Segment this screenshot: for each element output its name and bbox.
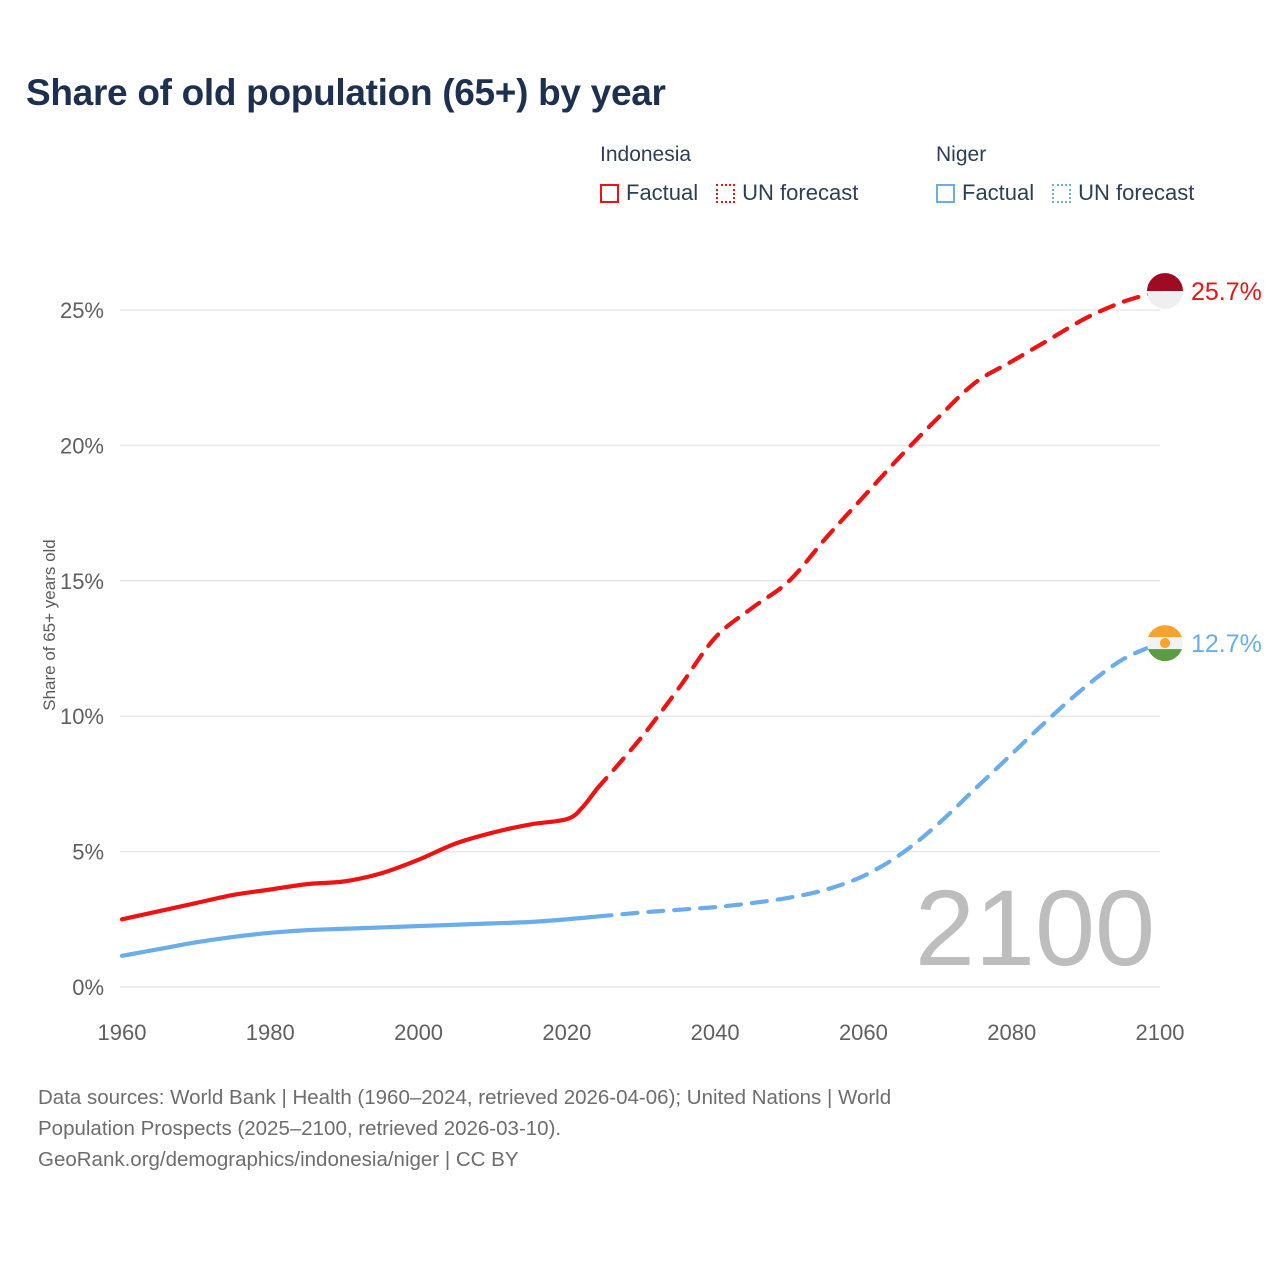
- x-tick-label: 2020: [542, 1020, 591, 1045]
- endpoint-value-label-indonesia: 25.7%: [1191, 278, 1262, 306]
- y-tick-label: 15%: [60, 569, 104, 594]
- year-watermark: 2100: [915, 867, 1155, 988]
- x-tick-label: 2000: [394, 1020, 443, 1045]
- footer-line-attribution: GeoRank.org/demographics/indonesia/niger…: [38, 1144, 1218, 1175]
- x-tick-label: 2060: [839, 1020, 888, 1045]
- x-tick-label: 2040: [691, 1020, 740, 1045]
- endpoint-value-label-niger: 12.7%: [1191, 630, 1262, 658]
- footer-line-sources-1: Data sources: World Bank | Health (1960–…: [38, 1082, 1218, 1113]
- y-tick-label: 25%: [60, 298, 104, 323]
- y-tick-label: 0%: [72, 975, 104, 1000]
- y-tick-labels-group: 0%5%10%15%20%25%: [60, 298, 104, 1000]
- y-tick-label: 20%: [60, 433, 104, 458]
- series-line-factual-niger: [122, 917, 597, 956]
- x-tick-label: 2080: [987, 1020, 1036, 1045]
- x-tick-labels-group: 19601980200020202040206020802100: [98, 1020, 1185, 1045]
- y-tick-label: 5%: [72, 840, 104, 865]
- footer: Data sources: World Bank | Health (1960–…: [38, 1082, 1218, 1175]
- y-tick-label: 10%: [60, 704, 104, 729]
- x-tick-label: 1980: [246, 1020, 295, 1045]
- line-chart-svg: 0%5%10%15%20%25% 19601980200020202040206…: [0, 0, 1280, 1060]
- series-line-forecast-indonesia: [597, 291, 1160, 789]
- endpoint-markers-group: [1147, 273, 1183, 661]
- x-tick-label: 2100: [1136, 1020, 1185, 1045]
- footer-line-sources-2: Population Prospects (2025–2100, retriev…: [38, 1113, 1218, 1144]
- series-paths-group: [122, 291, 1160, 956]
- chart-plot-area: Share of 65+ years old 0%5%10%15%20%25% …: [0, 0, 1280, 1060]
- flag-marker-indonesia-icon: [1147, 273, 1183, 309]
- series-line-factual-indonesia: [122, 789, 597, 919]
- y-axis-title: Share of 65+ years old: [40, 495, 60, 755]
- flag-marker-niger-icon: [1147, 625, 1183, 661]
- endpoint-labels-group: 25.7%12.7%: [1191, 278, 1262, 658]
- x-tick-label: 1960: [98, 1020, 147, 1045]
